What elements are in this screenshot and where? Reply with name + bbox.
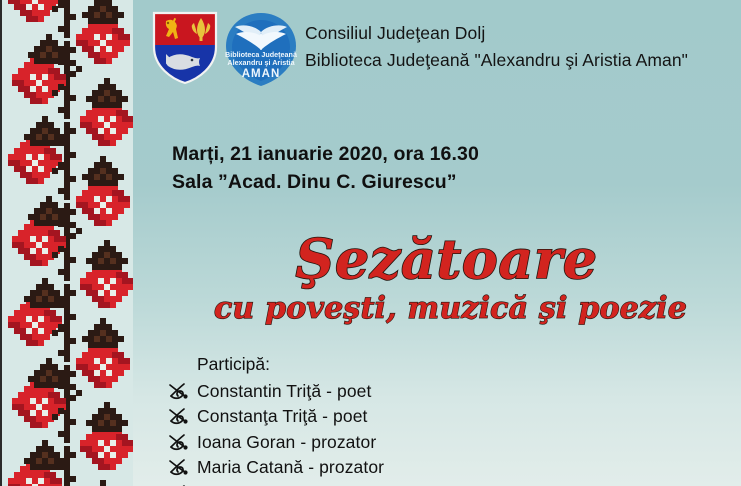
cross-stitch-pattern — [2, 0, 133, 486]
organizer-library-line: Biblioteca Judeţeană "Alexandru şi Arist… — [305, 47, 688, 74]
event-datetime-line: Marți, 21 ianuarie 2020, ora 16.30 — [172, 140, 479, 168]
event-poster: Biblioteca Judeţeană Alexandru şi Aristi… — [0, 0, 741, 486]
list-item: Constanţa Triţă - poet — [166, 404, 586, 430]
participants-label: Participă: — [166, 352, 586, 376]
quill-ornament-icon — [166, 456, 197, 478]
participant-name: Ioana Goran - prozator — [197, 431, 376, 453]
event-title-block: Şezătoare cu poveşti, muzică şi poezie — [178, 230, 723, 328]
poster-header: Biblioteca Judeţeană Alexandru şi Aristi… — [148, 6, 738, 88]
library-logo-line3: AMAN — [242, 68, 281, 80]
quill-ornament-icon — [166, 405, 197, 427]
list-item: Iuliana Radi - prozator — [166, 480, 586, 486]
quill-ornament-icon — [166, 431, 197, 453]
organizer-titles: Consiliul Judeţean Dolj Biblioteca Judeţ… — [305, 20, 688, 74]
library-logo-line2: Alexandru şi Aristia — [227, 58, 295, 67]
participants-list: Constantin Triţă - poet Constanţa Triţă … — [166, 378, 586, 486]
event-title: Şezătoare — [170, 230, 723, 288]
quill-ornament-icon — [166, 482, 197, 486]
aman-library-logo-icon: Biblioteca Judeţeană Alexandru şi Aristi… — [222, 10, 300, 88]
organizer-council-line: Consiliul Judeţean Dolj — [305, 20, 688, 47]
event-subtitle: cu poveşti, muzică şi poezie — [178, 290, 723, 328]
embroidery-border-strip — [0, 0, 133, 486]
participant-name: Iuliana Radi - prozator — [197, 482, 371, 486]
dolj-county-coat-of-arms-icon — [152, 11, 218, 85]
list-item: Maria Catană - prozator — [166, 455, 586, 481]
event-venue-line: Sala ”Acad. Dinu C. Giurescu” — [172, 168, 479, 196]
participants-section: Participă: Constantin Triţă - poet — [166, 352, 586, 486]
participant-name: Constanţa Triţă - poet — [197, 405, 367, 427]
participant-name: Maria Catană - prozator — [197, 456, 384, 478]
list-item: Constantin Triţă - poet — [166, 378, 586, 404]
event-datetime-venue: Marți, 21 ianuarie 2020, ora 16.30 Sala … — [172, 140, 479, 196]
quill-ornament-icon — [166, 380, 197, 402]
list-item: Ioana Goran - prozator — [166, 429, 586, 455]
participant-name: Constantin Triţă - poet — [197, 380, 371, 402]
